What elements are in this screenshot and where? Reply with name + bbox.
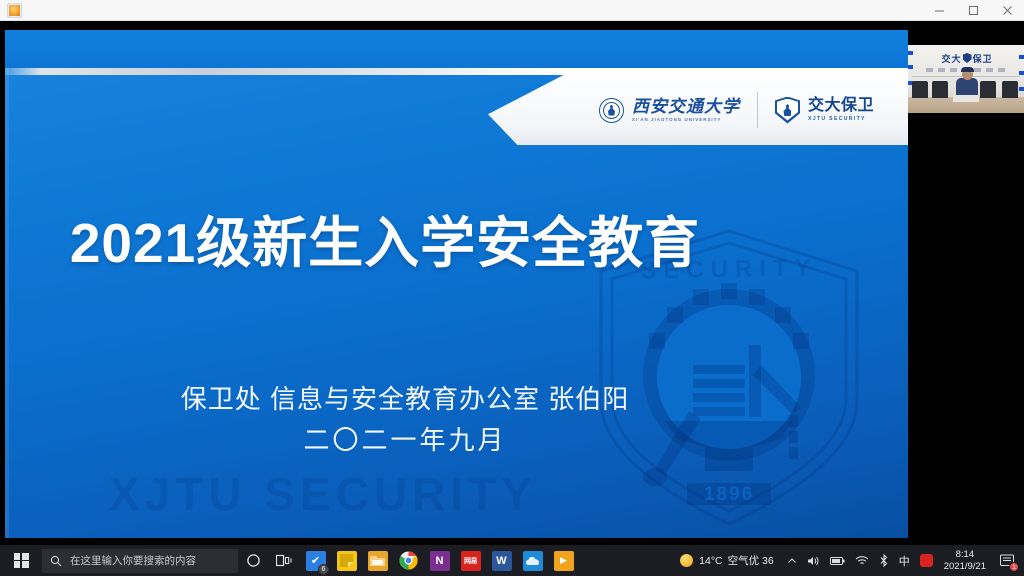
presentation-app-icon xyxy=(7,3,22,18)
webcam-presenter-feed[interactable]: 交大 保卫 xyxy=(908,45,1024,143)
video-presenter-cap xyxy=(961,67,974,72)
video-wall-banner-text: 交大 保卫 xyxy=(916,50,1018,66)
sogou-ime-icon[interactable] xyxy=(915,545,938,576)
task-view-icon[interactable] xyxy=(269,545,300,576)
weather-widget[interactable]: 14°C 空气优 36 xyxy=(680,553,782,568)
weather-temperature: 14°C xyxy=(699,555,722,567)
netease-app-icon: 网易 xyxy=(461,551,481,571)
notes-app-icon xyxy=(337,551,357,571)
slide-main-title: 2021级新生入学安全教育 xyxy=(5,198,765,278)
presentation-window: 西安交通大学 XI'AN JIAOTONG UNIVERSITY 交大保卫 XJ… xyxy=(0,0,1024,545)
notification-count-badge: 1 xyxy=(1009,562,1019,572)
xjtu-crest-icon xyxy=(599,98,624,123)
system-tray[interactable]: 14°C 空气优 36 xyxy=(680,545,1024,576)
video-chair xyxy=(912,81,928,98)
taskbar-app-wechat-work[interactable]: ✔ 6 xyxy=(300,545,331,576)
wifi-icon[interactable] xyxy=(850,545,874,576)
onedrive-icon xyxy=(523,551,543,571)
maximize-icon[interactable] xyxy=(956,0,990,21)
slideshow-stage[interactable]: 西安交通大学 XI'AN JIAOTONG UNIVERSITY 交大保卫 XJ… xyxy=(0,21,1024,545)
close-icon[interactable] xyxy=(990,0,1024,21)
banner-char-1: 交大 xyxy=(941,52,961,65)
xjtu-security-wordmark-watermark: XJTU SECURITY xyxy=(109,467,537,521)
security-name-en: XJTU SECURITY xyxy=(808,117,874,122)
windows-taskbar[interactable]: 在这里输入你要搜索的内容 ✔ 6 xyxy=(0,545,1024,576)
taskbar-app-media-player[interactable]: ▶ xyxy=(548,545,579,576)
banner-char-2: 保卫 xyxy=(973,52,993,65)
media-player-icon: ▶ xyxy=(554,551,574,571)
window-title-bar[interactable] xyxy=(0,0,1024,21)
slide-subtitle-presenter: 保卫处 信息与安全教育办公室 张伯阳 xyxy=(5,379,805,416)
taskbar-app-onedrive[interactable] xyxy=(517,545,548,576)
security-logo: 交大保卫 XJTU SECURITY xyxy=(775,97,874,124)
clock[interactable]: 8:14 2021/9/21 xyxy=(938,549,994,573)
shield-year-text: 1896 xyxy=(704,484,754,505)
speaker-icon[interactable] xyxy=(802,545,825,576)
slide-canvas[interactable]: 西安交通大学 XI'AN JIAOTONG UNIVERSITY 交大保卫 XJ… xyxy=(5,30,908,538)
search-icon xyxy=(50,555,62,567)
search-placeholder-text: 在这里输入你要搜索的内容 xyxy=(70,553,196,568)
battery-device-icon[interactable] xyxy=(825,545,850,576)
taskbar-app-chrome[interactable] xyxy=(393,545,424,576)
security-name-cn: 交大保卫 xyxy=(808,98,874,114)
slide-top-band xyxy=(5,30,908,68)
slide-left-accent-bar xyxy=(5,30,9,538)
slide-subtitle-date: 二〇二一年九月 xyxy=(5,420,805,457)
clock-date: 2021/9/21 xyxy=(944,561,986,573)
video-chair xyxy=(1002,81,1018,98)
xjtu-security-shield-icon xyxy=(775,97,800,124)
bluetooth-icon[interactable] xyxy=(874,545,894,576)
chrome-icon xyxy=(399,551,419,571)
windows-logo-icon xyxy=(14,553,29,568)
video-chair xyxy=(932,81,948,98)
weather-air-quality: 空气优 36 xyxy=(728,553,774,568)
taskbar-app-netease[interactable]: 网易 xyxy=(455,545,486,576)
taskbar-app-file-explorer[interactable] xyxy=(362,545,393,576)
search-input[interactable]: 在这里输入你要搜索的内容 xyxy=(42,549,238,573)
taskbar-app-word[interactable]: W xyxy=(486,545,517,576)
university-logo: 西安交通大学 XI'AN JIAOTONG UNIVERSITY xyxy=(599,98,740,123)
start-button[interactable] xyxy=(0,545,42,576)
chevron-up-icon[interactable] xyxy=(782,545,802,576)
video-right-markers xyxy=(1018,45,1024,101)
slide-logo-panel: 西安交通大学 XI'AN JIAOTONG UNIVERSITY 交大保卫 XJ… xyxy=(488,75,908,145)
minimize-icon[interactable] xyxy=(922,0,956,21)
video-desk-paper xyxy=(953,95,979,102)
taskbar-app-onenote[interactable]: N xyxy=(424,545,455,576)
app-badge-count: 6 xyxy=(318,564,329,575)
university-name-en: XI'AN JIAOTONG UNIVERSITY xyxy=(632,118,740,122)
video-lower-black-area xyxy=(908,113,1024,143)
file-explorer-icon xyxy=(368,551,388,571)
ime-indicator[interactable]: 中 xyxy=(894,545,915,576)
sun-icon xyxy=(680,554,693,567)
slide-highlight-stripe xyxy=(5,68,908,75)
cortana-circle-icon[interactable] xyxy=(238,545,269,576)
banner-shield-icon xyxy=(963,53,972,63)
word-icon: W xyxy=(492,551,512,571)
onenote-icon: N xyxy=(430,551,450,571)
video-chair xyxy=(980,81,996,98)
clock-time: 8:14 xyxy=(944,549,986,561)
action-center-icon[interactable]: 1 xyxy=(994,545,1020,576)
taskbar-app-notes[interactable] xyxy=(331,545,362,576)
university-name-cn: 西安交通大学 xyxy=(632,98,740,115)
logo-divider xyxy=(757,92,758,128)
